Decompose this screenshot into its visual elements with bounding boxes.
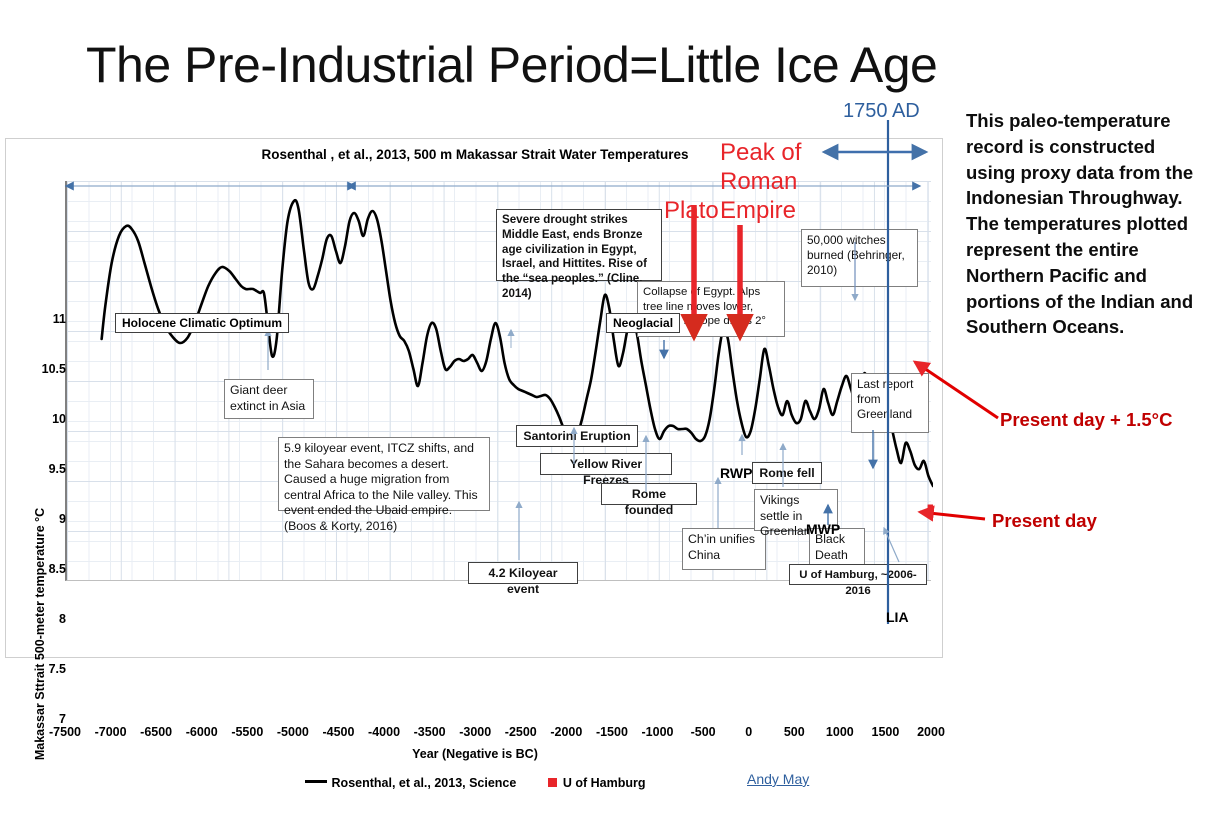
x-axis-title: Year (Negative is BC)	[6, 747, 944, 761]
x-tick-2000: 2000	[901, 725, 961, 739]
page-title: The Pre-Industrial Period=Little Ice Age	[86, 36, 1016, 94]
red-label-peak-of-roman-empire: Peak of Roman Empire	[720, 138, 801, 225]
red-label-line-1: Peak of	[720, 138, 801, 167]
y-axis-title: Makassar Sttrait 500-meter temperature °…	[33, 434, 47, 834]
legend-line-swatch-icon	[305, 780, 327, 783]
marker-lia: LIA	[886, 609, 909, 625]
red-label-plato: Plato	[664, 196, 719, 225]
note-u-of-hamburg-range: U of Hamburg, ~2006-2016	[789, 564, 927, 585]
legend-item-rosenthal: Rosenthal, et al., 2013, Science	[305, 776, 517, 790]
note-santorini-eruption: Santorini Eruption	[516, 425, 638, 447]
note-last-report-from-greenland: Last report from Greenland	[851, 373, 929, 433]
legend-square-swatch-icon	[548, 778, 557, 787]
y-axis-title-wrap: Makassar Sttrait 500-meter temperature °…	[20, 319, 42, 719]
band-label-neoglacial: Neoglacial	[606, 313, 680, 333]
chart-title: Rosenthal , et al., 2013, 500 m Makassar…	[6, 147, 944, 162]
x-axis-ticks: -7500-7000-6500-6000-5500-5000-4500-4000…	[6, 725, 944, 745]
note-4-2-kiloyear-event: 4.2 Kiloyear event	[468, 562, 578, 584]
note-50000-witches-burned: 50,000 witches burned (Behringer, 2010)	[801, 229, 918, 287]
legend-label-rosenthal: Rosenthal, et al., 2013, Science	[332, 776, 517, 790]
red-label-line-2: Roman	[720, 167, 801, 196]
legend-item-hamburg: U of Hamburg	[548, 776, 646, 790]
note-rome-fell: Rome fell	[752, 462, 822, 484]
red-label-line-3: Empire	[720, 196, 801, 225]
marker-rwp: RWP	[720, 465, 752, 481]
legend-label-hamburg: U of Hamburg	[563, 776, 646, 790]
side-note-paragraph: This paleo-temperature record is constru…	[966, 108, 1206, 340]
note-5-9-kiloyear-event: 5.9 kiloyear event, ITCZ shifts, and the…	[278, 437, 490, 511]
note-yellow-river-freezes: Yellow River Freezes	[540, 453, 672, 475]
note-chin-unifies-china: Ch’in unifies China	[682, 528, 766, 570]
andy-may-link[interactable]: Andy May	[747, 771, 809, 787]
note-severe-drought: Severe drought strikes Middle East, ends…	[496, 209, 662, 281]
note-giant-deer: Giant deer extinct in Asia	[224, 379, 314, 419]
chart-container: Rosenthal , et al., 2013, 500 m Makassar…	[5, 138, 943, 658]
note-rome-founded: Rome founded	[601, 483, 697, 505]
marker-mwp: MWP	[806, 521, 840, 537]
u-of-hamburg-datapoint	[928, 505, 933, 514]
band-label-holocene-climatic-optimum: Holocene Climatic Optimum	[115, 313, 289, 333]
present-day-plus-label: Present day + 1.5°C	[1000, 409, 1218, 431]
present-day-label: Present day	[992, 510, 1212, 532]
vertical-line-label-1750: 1750 AD	[843, 100, 920, 123]
